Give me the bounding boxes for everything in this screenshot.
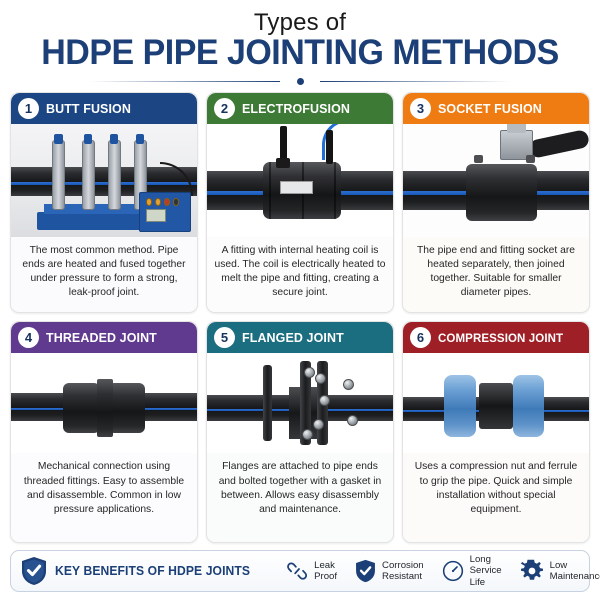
benefit-corrosion-resistant: Corrosion Resistant [355,559,424,583]
card-header: 3 SOCKET FUSION [403,93,589,124]
method-card-butt-fusion[interactable]: 1 BUTT FUSION [10,92,198,314]
method-card-threaded-joint[interactable]: 4 THREADED JOINT Mechanical connection u… [10,321,198,543]
card-description: Flanges are attached to pipe ends and bo… [207,453,393,542]
benefit-label: Leak Proof [314,560,337,583]
card-number-badge: 2 [214,98,235,119]
gear-icon [520,559,544,583]
benefit-label: Corrosion Resistant [382,560,424,583]
electrofusion-photo [207,124,393,237]
card-number-badge: 3 [410,98,431,119]
butt-fusion-photo [11,124,197,237]
method-card-electrofusion[interactable]: 2 ELECTROFUSION A [206,92,394,314]
benefit-long-service-life: Long Service Life [442,554,502,588]
flanged-joint-photo [207,353,393,453]
card-description: A fitting with internal heating coil is … [207,237,393,313]
method-cards-grid: 1 BUTT FUSION [10,92,590,543]
card-description: Mechanical connection using threaded fit… [11,453,197,542]
benefit-label: Long Service Life [470,554,502,588]
chain-link-icon [286,560,308,582]
key-benefits-brand: KEY BENEFITS OF HDPE JOINTS [21,556,268,586]
card-header: 4 THREADED JOINT [11,322,197,353]
card-title: ELECTROFUSION [242,101,350,116]
method-card-socket-fusion[interactable]: 3 SOCKET FUSION [402,92,590,314]
threaded-joint-photo [11,353,197,453]
card-title: BUTT FUSION [46,101,131,116]
card-description: Uses a compression nut and ferrule to gr… [403,453,589,542]
card-header: 2 ELECTROFUSION [207,93,393,124]
benefit-low-maintenance: Low Maintenance [520,559,600,583]
method-card-flanged-joint[interactable]: 5 FLANGED JOINT [206,321,394,543]
infographic-page: Types of HDPE PIPE JOINTING METHODS 1 BU… [0,0,600,600]
shield-check-icon [355,559,376,583]
card-header: 5 FLANGED JOINT [207,322,393,353]
shield-check-icon [21,556,47,586]
page-title: HDPE PIPE JOINTING METHODS [19,34,582,73]
card-header: 1 BUTT FUSION [11,93,197,124]
card-title: FLANGED JOINT [242,330,344,345]
card-title: SOCKET FUSION [438,101,542,116]
benefit-label: Low Maintenance [550,560,600,583]
card-number-badge: 6 [410,327,431,348]
benefit-leak-proof: Leak Proof [286,560,337,583]
card-number-badge: 1 [18,98,39,119]
card-title: THREADED JOINT [46,330,157,345]
header-subtitle: Types of [10,10,590,35]
card-description: The most common method. Pipe ends are he… [11,237,197,313]
header-divider [90,77,510,86]
compression-joint-photo [403,353,589,453]
method-card-compression-joint[interactable]: 6 COMPRESSION JOINT Uses a compression n… [402,321,590,543]
card-number-badge: 4 [18,327,39,348]
key-benefits-label: KEY BENEFITS OF HDPE JOINTS [55,564,250,578]
clock-icon [442,560,464,582]
key-benefits-bar: KEY BENEFITS OF HDPE JOINTS Leak Proof [10,550,590,592]
card-number-badge: 5 [214,327,235,348]
socket-fusion-photo [403,124,589,237]
card-header: 6 COMPRESSION JOINT [403,322,589,353]
card-description: The pipe end and fitting socket are heat… [403,237,589,313]
page-header: Types of HDPE PIPE JOINTING METHODS [10,8,590,86]
card-title: COMPRESSION JOINT [438,331,563,345]
